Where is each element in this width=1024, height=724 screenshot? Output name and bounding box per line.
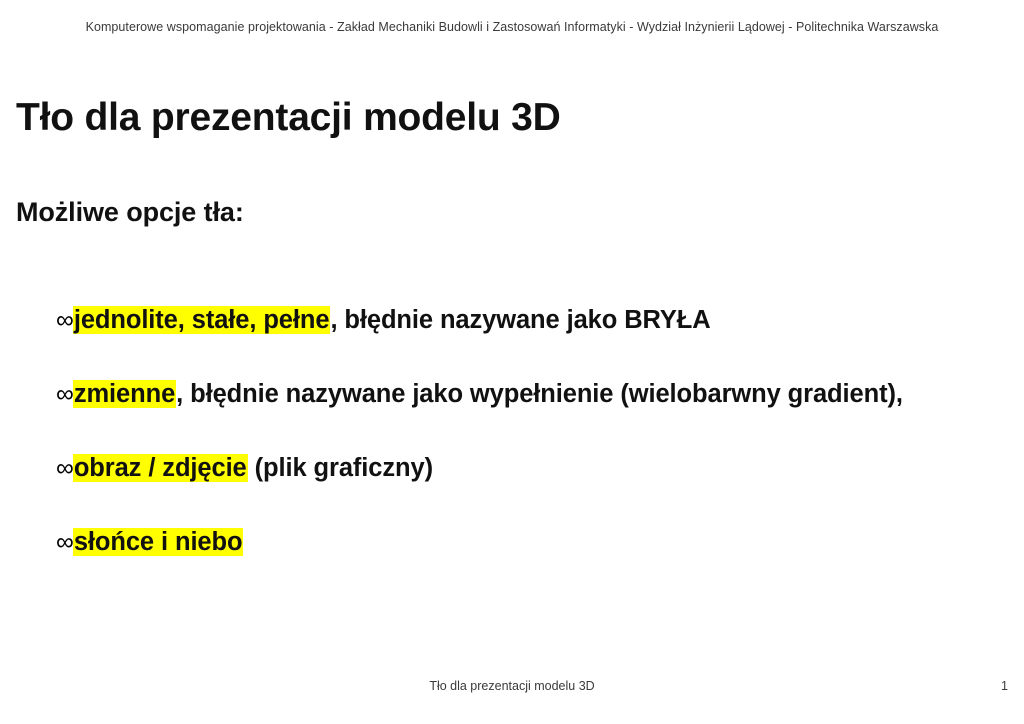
highlighted-phrase: słońce i niebo xyxy=(73,528,244,556)
list-item: ∞zmienne, błędnie nazywane jako wypełnie… xyxy=(56,372,1016,416)
list-item: ∞jednolite, stałe, pełne, błędnie nazywa… xyxy=(56,298,1016,342)
slide-footer-title: Tło dla prezentacji modelu 3D xyxy=(0,679,1024,693)
slide-header-affiliation: Komputerowe wspomaganie projektowania - … xyxy=(0,20,1024,34)
slide-title: Tło dla prezentacji modelu 3D xyxy=(16,96,561,140)
list-item: ∞słońce i niebo xyxy=(56,520,1016,564)
list-item: ∞obraz / zdjęcie (plik graficzny) xyxy=(56,446,1016,490)
infinity-bullet-icon: ∞ xyxy=(56,298,73,342)
bullet-rest-text: , błędnie nazywane jako wypełnienie (wie… xyxy=(176,380,903,408)
slide-page-number: 1 xyxy=(1001,679,1008,693)
presentation-slide: Komputerowe wspomaganie projektowania - … xyxy=(0,0,1024,724)
highlighted-phrase: jednolite, stałe, pełne xyxy=(73,306,331,334)
infinity-bullet-icon: ∞ xyxy=(56,446,73,490)
infinity-bullet-icon: ∞ xyxy=(56,372,73,416)
bullet-rest-text: (plik graficzny) xyxy=(248,454,433,482)
highlighted-phrase: obraz / zdjęcie xyxy=(73,454,248,482)
bullet-list: ∞jednolite, stałe, pełne, błędnie nazywa… xyxy=(56,298,1016,564)
infinity-bullet-icon: ∞ xyxy=(56,520,73,564)
slide-lead-text: Możliwe opcje tła: xyxy=(16,197,244,228)
highlighted-phrase: zmienne xyxy=(73,380,176,408)
bullet-rest-text: , błędnie nazywane jako BRYŁA xyxy=(330,306,710,334)
